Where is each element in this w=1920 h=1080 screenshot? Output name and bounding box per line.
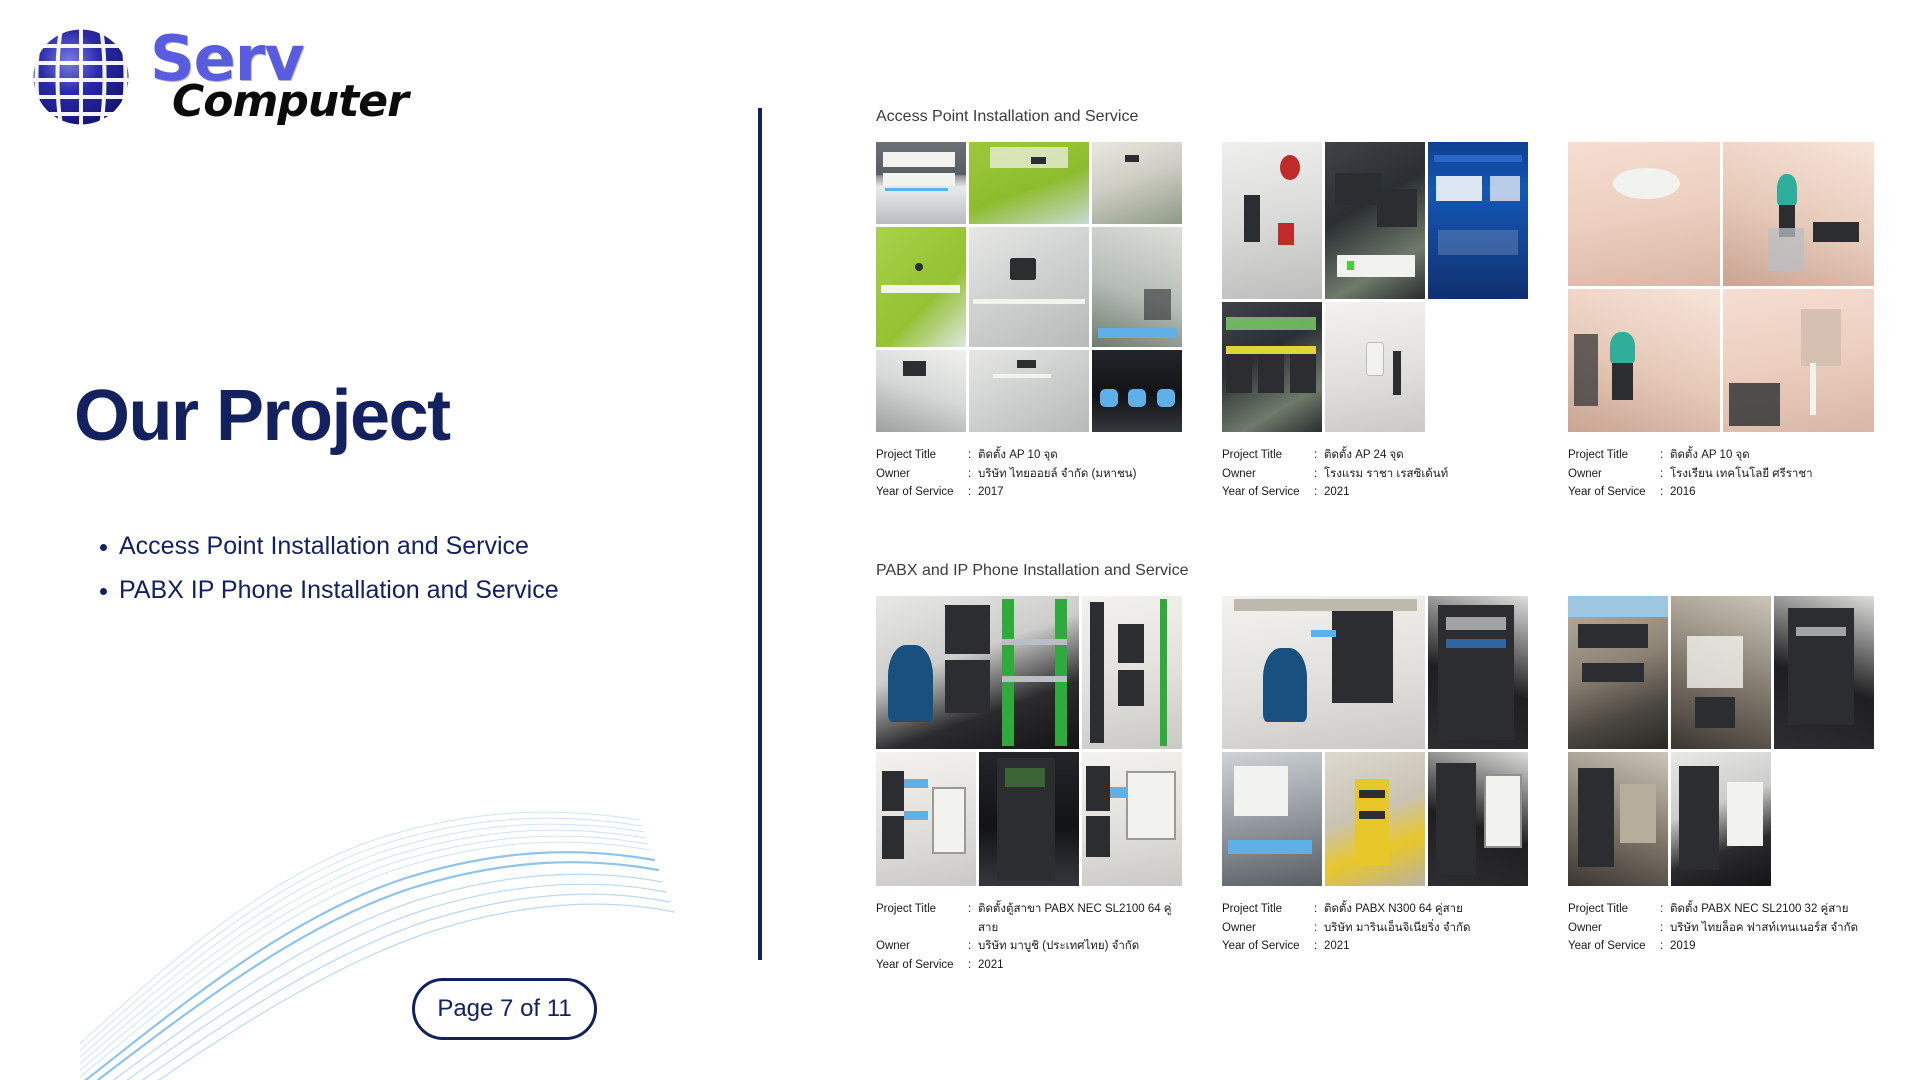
terminal-block-photo — [1671, 752, 1771, 886]
caption-value-year: 2021 — [1324, 483, 1528, 502]
caption-label-year: Year of Service — [876, 483, 968, 502]
caption-row-owner: Owner : โรงเรียน เทคโนโลยี ศรีราชา — [1568, 465, 1874, 484]
junction-box-photo — [1671, 596, 1771, 750]
caption-row-year: Year of Service : 2016 — [1568, 483, 1874, 502]
project-caption: Project Title : ติดตั้งตู้สาขา PABX NEC … — [876, 900, 1182, 975]
ceiling-ap-photo — [876, 350, 966, 432]
project-caption: Project Title : ติดตั้ง AP 10 จุด Owner … — [876, 446, 1182, 502]
project-card: Project Title : ติดตั้ง AP 10 จุด Owner … — [876, 142, 1182, 502]
bullet-dot-icon — [100, 544, 107, 551]
projects-panel: Access Point Installation and Service — [876, 108, 1876, 1034]
ladder-and-cabinet-photo — [1082, 596, 1182, 750]
caption-label-year: Year of Service — [1222, 937, 1314, 956]
caption-row-year: Year of Service : 2021 — [1222, 937, 1528, 956]
speedtest-screen-photo — [1428, 142, 1528, 299]
caption-colon: : — [1660, 446, 1670, 465]
caption-row-year: Year of Service : 2017 — [876, 483, 1182, 502]
page-indicator[interactable]: Page 7 of 11 — [412, 978, 597, 1040]
technician-installing-pabx-photo — [876, 596, 1079, 750]
bullet-label: PABX IP Phone Installation and Service — [119, 574, 559, 608]
photo-collage — [876, 596, 1182, 886]
project-card: Project Title : ติดตั้ง AP 24 จุด Owner … — [1222, 142, 1528, 502]
caption-colon: : — [968, 465, 978, 484]
caption-label-year: Year of Service — [1568, 483, 1660, 502]
caption-label-owner: Owner — [1222, 919, 1314, 938]
caption-label-owner: Owner — [1222, 465, 1314, 484]
caption-value-year: 2021 — [978, 956, 1182, 975]
caption-colon: : — [1660, 465, 1670, 484]
black-rack-photo — [979, 752, 1079, 886]
brand-logo: Serv Computer — [22, 22, 408, 132]
caption-value-owner: บริษัท มารินเอ็นจิเนียริ่ง จำกัด — [1324, 919, 1528, 938]
yellow-tool-case-photo — [1325, 752, 1425, 886]
caption-colon: : — [1314, 465, 1324, 484]
bullet-label: Access Point Installation and Service — [119, 530, 529, 564]
caption-value-owner: บริษัท ไทยออยล์ จำกัด (มหาชน) — [978, 465, 1182, 484]
old-wiring-wall-photo — [1568, 596, 1668, 750]
caption-label-title: Project Title — [876, 446, 968, 465]
caption-value-year: 2016 — [1670, 483, 1874, 502]
conduit-pipe-photo — [1723, 289, 1875, 433]
caption-row-year: Year of Service : 2021 — [876, 956, 1182, 975]
photo-collage — [1222, 596, 1528, 886]
list-item: PABX IP Phone Installation and Service — [100, 574, 740, 608]
project-card: Project Title : ติดตั้ง PABX N300 64 คู่… — [1222, 596, 1528, 975]
caption-colon: : — [1660, 937, 1670, 956]
server-rack-photo — [1428, 596, 1528, 750]
project-caption: Project Title : ติดตั้ง PABX N300 64 คู่… — [1222, 900, 1528, 956]
photo-collage — [1222, 142, 1528, 432]
caption-value-year: 2021 — [1324, 937, 1528, 956]
brand-wordmark: Serv Computer — [150, 32, 408, 121]
project-card: Project Title : ติดตั้ง PABX NEC SL2100 … — [1568, 596, 1874, 975]
caption-row-title: Project Title : ติดตั้ง AP 24 จุด — [1222, 446, 1528, 465]
green-wall-light-photo — [876, 227, 966, 346]
caption-colon: : — [1314, 919, 1324, 938]
corridor-ceiling-photo — [969, 350, 1090, 432]
caption-value-title: ติดตั้งตู้สาขา PABX NEC SL2100 64 คู่สาย — [978, 900, 1182, 937]
caption-label-owner: Owner — [1568, 919, 1660, 938]
technician-on-ladder-photo — [1723, 142, 1875, 286]
ceiling-tile-ap-photo — [969, 227, 1090, 346]
vertical-divider — [758, 108, 762, 960]
section-pabx: PABX and IP Phone Installation and Servi… — [876, 562, 1876, 975]
caption-label-title: Project Title — [1222, 446, 1314, 465]
caption-value-title: ติดตั้ง PABX N300 64 คู่สาย — [1324, 900, 1528, 919]
slide-root: Serv Computer Our Project Access Point I… — [0, 0, 1920, 1080]
caption-colon: : — [1314, 483, 1324, 502]
project-caption: Project Title : ติดตั้ง AP 24 จุด Owner … — [1222, 446, 1528, 502]
caption-row-title: Project Title : ติดตั้ง AP 10 จุด — [1568, 446, 1874, 465]
caption-colon: : — [1314, 900, 1324, 919]
section-heading: Access Point Installation and Service — [876, 108, 1876, 126]
caption-row-owner: Owner : บริษัท ไทยออยล์ จำกัด (มหาชน) — [876, 465, 1182, 484]
photo-collage — [1568, 596, 1874, 886]
caption-colon: : — [1660, 483, 1670, 502]
caption-row-year: Year of Service : 2021 — [1222, 483, 1528, 502]
caption-label-year: Year of Service — [876, 956, 968, 975]
caption-value-owner: บริษัท มาบูชิ (ประเทศไทย) จำกัด — [978, 937, 1182, 956]
caption-label-year: Year of Service — [1568, 937, 1660, 956]
project-caption: Project Title : ติดตั้ง PABX NEC SL2100 … — [1568, 900, 1874, 956]
green-wall-ceiling-photo — [969, 142, 1090, 224]
caption-row-owner: Owner : บริษัท มาบูชิ (ประเทศไทย) จำกัด — [876, 937, 1182, 956]
caption-value-year: 2019 — [1670, 937, 1874, 956]
caption-row-owner: Owner : โรงแรม ราชา เรสซิเด้นท์ — [1222, 465, 1528, 484]
project-bullet-list: Access Point Installation and Service PA… — [100, 530, 740, 618]
section-access-point: Access Point Installation and Service — [876, 108, 1876, 502]
cabinet-panel-photo — [1428, 752, 1528, 886]
caption-value-owner: โรงแรม ราชา เรสซิเด้นท์ — [1324, 465, 1528, 484]
caption-colon: : — [968, 956, 978, 975]
caption-colon: : — [1660, 900, 1670, 919]
technician-corridor-photo — [1568, 289, 1720, 433]
equipment-floor-photo — [1222, 752, 1322, 886]
wall-mounted-ap-photo — [1325, 302, 1425, 432]
caption-row-title: Project Title : ติดตั้ง PABX NEC SL2100 … — [1568, 900, 1874, 919]
caption-value-title: ติดตั้ง AP 10 จุด — [978, 446, 1182, 465]
caption-colon: : — [1660, 919, 1670, 938]
caption-row-title: Project Title : ติดตั้งตู้สาขา PABX NEC … — [876, 900, 1182, 937]
caption-row-owner: Owner : บริษัท มารินเอ็นจิเนียริ่ง จำกัด — [1222, 919, 1528, 938]
caption-row-owner: Owner : บริษัท ไทยล็อค ฟาสท์เทนเนอร์ส จำ… — [1568, 919, 1874, 938]
classroom-window-photo — [1092, 227, 1182, 346]
caption-row-title: Project Title : ติดตั้ง AP 10 จุด — [876, 446, 1182, 465]
caption-label-owner: Owner — [876, 465, 968, 484]
caption-value-year: 2017 — [978, 483, 1182, 502]
photo-collage — [1568, 142, 1874, 432]
list-item: Access Point Installation and Service — [100, 530, 740, 564]
caption-label-owner: Owner — [1568, 465, 1660, 484]
blue-chairs-photo — [1092, 350, 1182, 432]
patch-panel-cables-photo — [1222, 302, 1322, 432]
caption-label-year: Year of Service — [1222, 483, 1314, 502]
caption-value-title: ติดตั้ง AP 10 จุด — [1670, 446, 1874, 465]
caption-colon: : — [968, 446, 978, 465]
caption-row-title: Project Title : ติดตั้ง PABX N300 64 คู่… — [1222, 900, 1528, 919]
caption-value-owner: โรงเรียน เทคโนโลยี ศรีราชา — [1670, 465, 1874, 484]
brand-name-secondary: Computer — [172, 83, 408, 122]
caption-value-title: ติดตั้ง AP 24 จุด — [1324, 446, 1528, 465]
caption-label-title: Project Title — [876, 900, 968, 937]
caption-colon: : — [1314, 937, 1324, 956]
technician-wiring-photo — [1222, 596, 1425, 750]
project-card: Project Title : ติดตั้ง AP 10 จุด Owner … — [1568, 142, 1874, 502]
project-card: Project Title : ติดตั้งตู้สาขา PABX NEC … — [876, 596, 1182, 975]
project-card-row: Project Title : ติดตั้งตู้สาขา PABX NEC … — [876, 596, 1876, 975]
wall-cabinet-cables-photo — [876, 752, 976, 886]
cable-bundle-photo — [1774, 596, 1874, 750]
bullet-dot-icon — [100, 588, 107, 595]
caption-label-owner: Owner — [876, 937, 968, 956]
caption-label-title: Project Title — [1568, 900, 1660, 919]
caption-value-title: ติดตั้ง PABX NEC SL2100 32 คู่สาย — [1670, 900, 1874, 919]
caption-label-title: Project Title — [1568, 446, 1660, 465]
ceiling-ap-dome-photo — [1568, 142, 1720, 286]
globe-grid-icon — [22, 22, 140, 132]
caption-value-owner: บริษัท ไทยล็อค ฟาสท์เทนเนอร์ส จำกัด — [1670, 919, 1874, 938]
pabx-cabinet-photo — [1568, 752, 1668, 886]
caption-colon: : — [968, 900, 978, 937]
ceiling-corner-photo — [1092, 142, 1182, 224]
caption-colon: : — [968, 483, 978, 502]
cabinet-open-photo — [1082, 752, 1182, 886]
caption-colon: : — [1314, 446, 1324, 465]
project-caption: Project Title : ติดตั้ง AP 10 จุด Owner … — [1568, 446, 1874, 502]
network-rack-photo — [876, 142, 966, 224]
photo-collage — [876, 142, 1182, 432]
caption-colon: : — [968, 937, 978, 956]
page-title: Our Project — [74, 375, 450, 457]
project-card-row: Project Title : ติดตั้ง AP 10 จุด Owner … — [876, 142, 1876, 502]
door-with-sign-photo — [1222, 142, 1322, 299]
network-devices-photo — [1325, 142, 1425, 299]
section-heading: PABX and IP Phone Installation and Servi… — [876, 562, 1876, 580]
caption-row-year: Year of Service : 2019 — [1568, 937, 1874, 956]
caption-label-title: Project Title — [1222, 900, 1314, 919]
decorative-swoosh — [80, 760, 680, 1080]
